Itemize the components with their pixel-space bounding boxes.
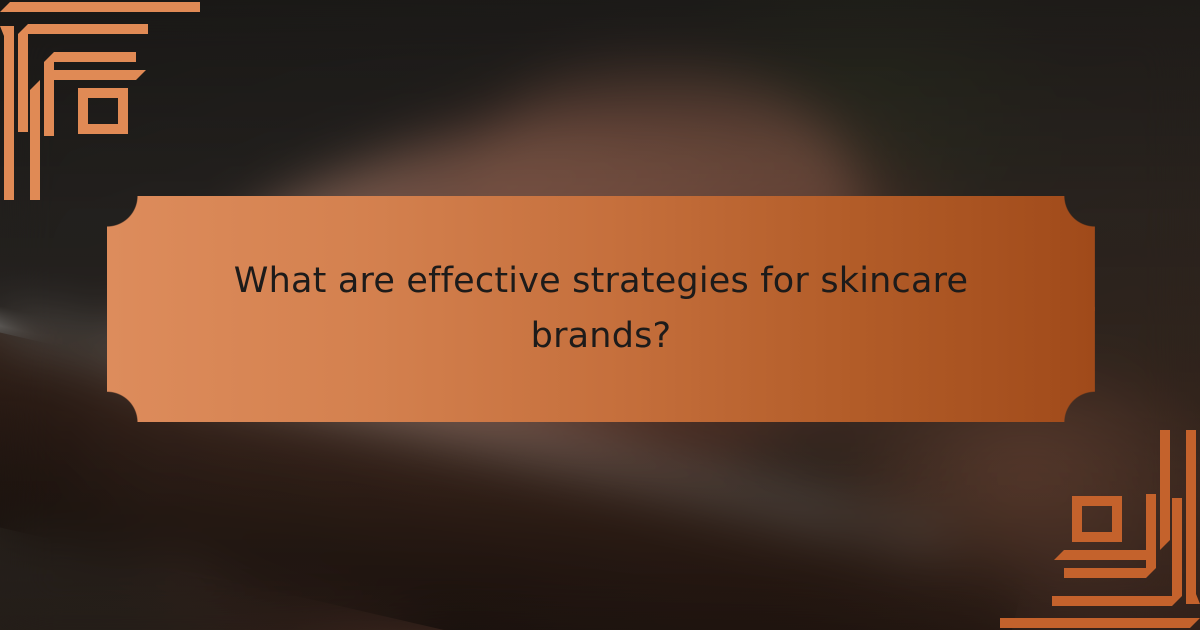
question-card-content: What are effective strategies for skinca… [107, 196, 1095, 422]
question-card: What are effective strategies for skinca… [107, 196, 1095, 422]
question-text: What are effective strategies for skinca… [179, 254, 1023, 363]
social-card-canvas: What are effective strategies for skinca… [0, 0, 1200, 630]
